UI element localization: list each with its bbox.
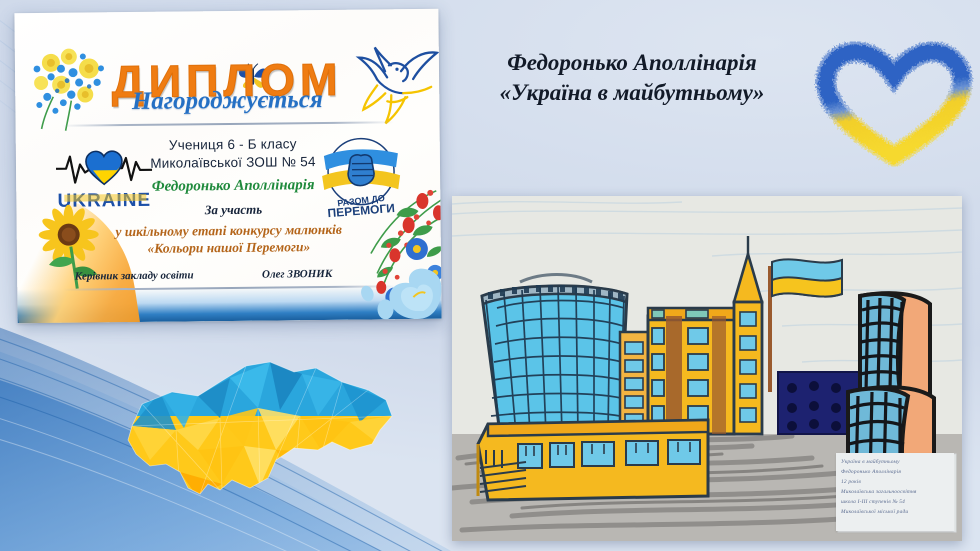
drawing-caption: Україна в майбутньому Федоронько Аполлін… [836,453,954,531]
heading-line-2: «Україна в майбутньому» [452,78,812,108]
certificate-subtitle: Нагороджується [15,85,439,117]
ukraine-low-poly-map-icon [80,338,410,538]
heading-line-1: Федоронько Аполлінарія [452,48,812,78]
caption-line-1: Україна в майбутньому [841,457,949,467]
caption-line-3: 12 років [841,477,949,487]
diploma-certificate: ДИПЛОМ Нагороджується UKRAINE [14,9,441,323]
caption-line-4: Миколаївська загальноосвітня [841,487,949,497]
recipient-class-line-2: Миколаївської ЗОШ № 54 [112,154,354,172]
recipient-class-line-1: Учениця 6 - Б класу [112,136,354,154]
caption-line-2: Федоронько Аполлінарія [841,467,949,477]
blue-flowers-berries-icon [296,187,441,323]
slide-heading: Федоронько Аполлінарія «Україна в майбут… [452,48,812,108]
slide-canvas: ДИПЛОМ Нагороджується UKRAINE [0,0,980,551]
caption-line-6: Миколаївської міської ради [841,507,949,517]
ukrainian-flag-heart-icon [812,36,976,168]
caption-line-5: школа І-ІІІ ступенів № 54 [841,497,949,507]
child-drawing-future-city: Україна в майбутньому Федоронько Аполлін… [452,196,962,541]
signature-role: Керівник закладу освіти [39,269,229,283]
